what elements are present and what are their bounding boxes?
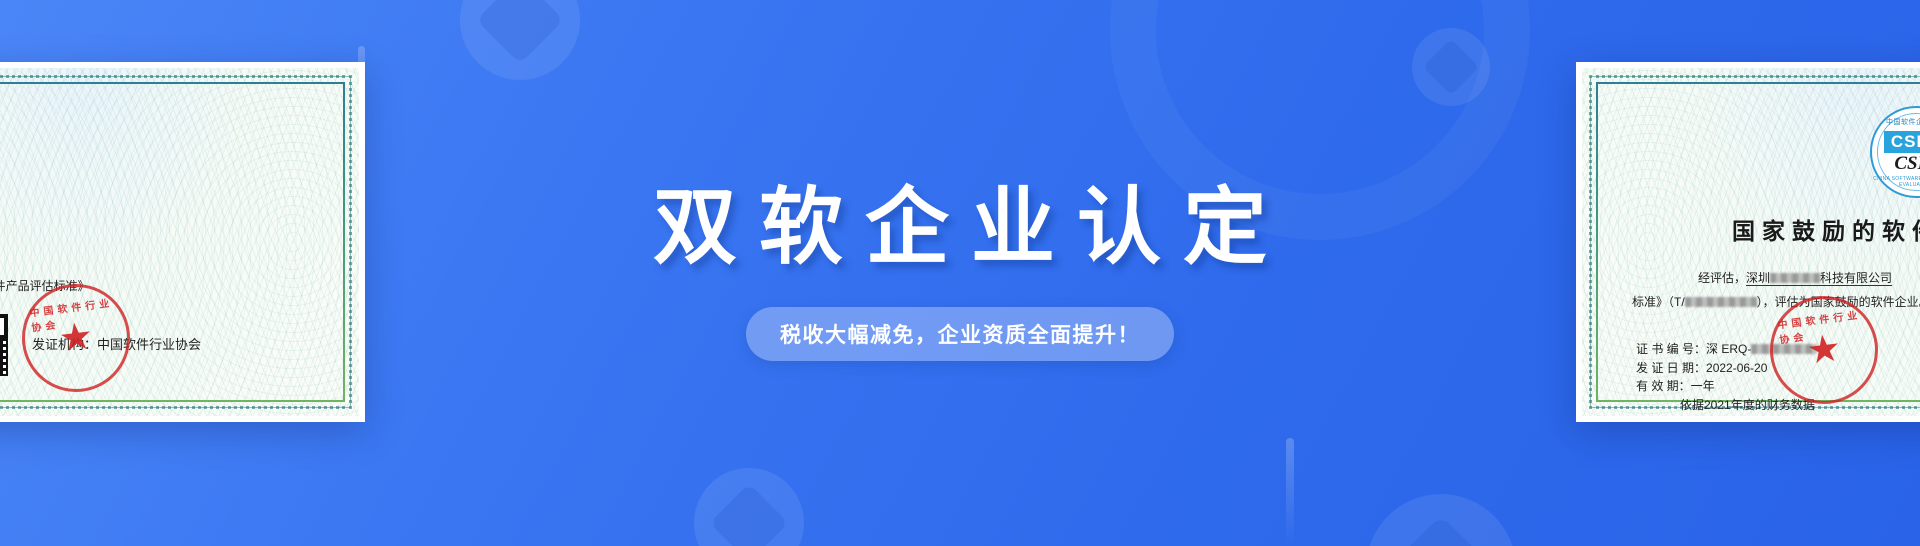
promo-banner: 中国软件企业评估 CSEE CSIA CHINA SOFTWARE ENTERP… (0, 0, 1920, 546)
banner-headline: 双软企业认定 (631, 185, 1289, 269)
banner-center-content: 双软企业认定 税收大幅减免，企业资质全面提升！ (0, 0, 1920, 546)
banner-subtitle-pill: 税收大幅减免，企业资质全面提升！ (746, 307, 1174, 361)
